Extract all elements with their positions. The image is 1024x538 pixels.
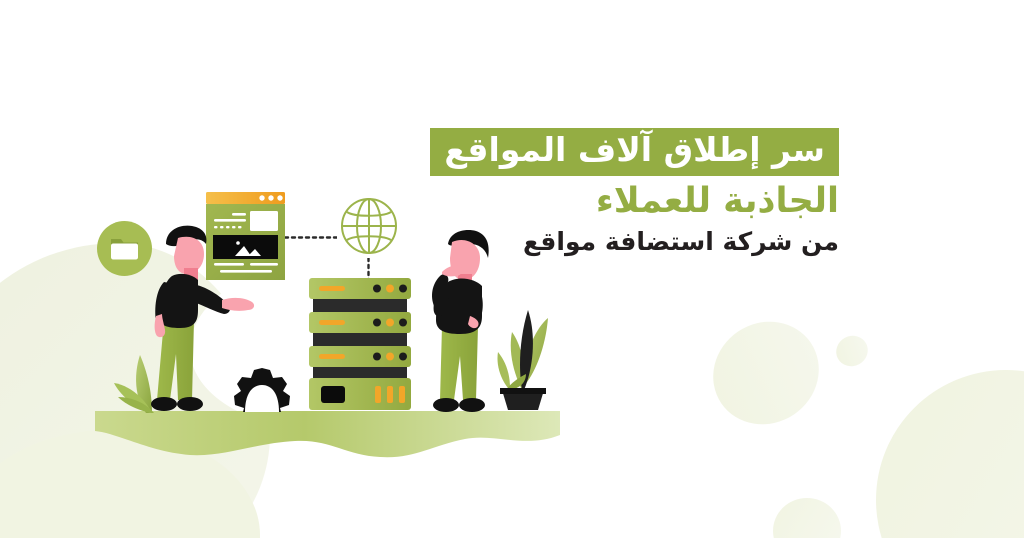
person-left [142,224,260,418]
headline-line1: سر إطلاق آلاف المواقع [444,132,825,169]
background-blob-bottom [773,498,841,538]
background-blob-oval-large [693,301,838,444]
background-blob-corner [876,370,1024,538]
potted-plant-icon [492,304,554,412]
connector-dots-vertical [367,258,370,280]
banner-canvas: سر إطلاق آلاف المواقع الجاذبة للعملاء من… [0,0,1024,538]
globe-icon [337,193,401,259]
headline-line2: الجاذبة للعملاء [430,182,839,221]
server-rack-icon [303,278,417,410]
connector-dots-horizontal [285,236,337,239]
headline-line1-highlight: سر إطلاق آلاف المواقع [430,128,839,176]
background-blob-oval-small [831,330,873,372]
